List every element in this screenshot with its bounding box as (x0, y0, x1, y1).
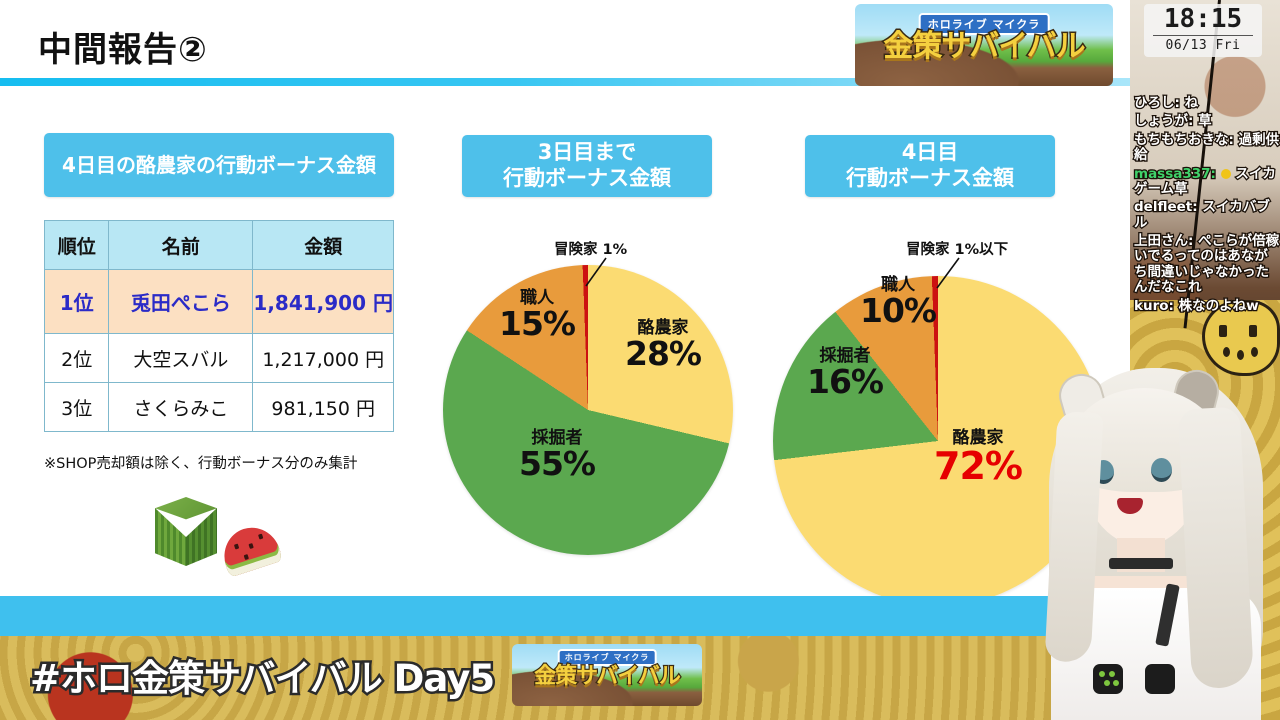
slide-panel: 中間報告② ホロライブ マイクラ 金策サバイバル 4日目の酪農家の行動ボーナス金… (0, 0, 1130, 720)
pie1-callout-leader-line (560, 252, 630, 288)
chat-text: 草 (1198, 113, 1212, 129)
melon-block-icon (155, 497, 217, 567)
chat-message: もちもちおきな: 過剰供給 (1134, 133, 1280, 164)
table-footnote: ※SHOP売却額は除く、行動ボーナス分のみ集計 (44, 452, 357, 473)
hashtag-banner-text: #ホロ金策サバイバル Day5 (30, 648, 494, 702)
cell-rank: 2位 (45, 334, 109, 383)
column-header-rank: 順位 (45, 221, 109, 270)
chat-message-list[interactable]: ひろし: ねしょうが: 草もちもちおきな: 過剰供給massa337: スイカゲ… (1134, 96, 1280, 317)
clock-divider (1153, 35, 1253, 36)
chat-message: 上田さん: ぺこらが倍稼いでるってのはあながち間違いじゃなかったんだなこれ (1134, 234, 1280, 296)
pie2-callout-leader-line (915, 252, 985, 290)
chat-text: ね (1185, 95, 1199, 111)
chat-message: delfleet: スイカバブル (1134, 200, 1280, 231)
chat-author: 上田さん: (1134, 233, 1198, 249)
chat-message: kuro: 株なのよねw (1134, 299, 1280, 314)
stream-clock: 18:15 06/13 Fri (1144, 4, 1262, 57)
cell-amount: 1,841,900 円 (253, 270, 394, 334)
pie2-title-line1: 4日目 (902, 140, 959, 164)
page-title: 中間報告② (38, 22, 208, 71)
table-header-row: 順位 名前 金額 (45, 221, 394, 270)
cell-rank: 3位 (45, 383, 109, 432)
chat-author: delfleet: (1134, 199, 1202, 215)
table-row: 1位 兎田ぺこら 1,841,900 円 (45, 270, 394, 334)
pie1-section-header: 3日目まで 行動ボーナス金額 (462, 135, 712, 197)
chat-author: しょうが: (1134, 113, 1198, 129)
cell-name: 兎田ぺこら (109, 270, 253, 334)
melon-slice-icon (217, 520, 283, 577)
pie2-title-line2: 行動ボーナス金額 (846, 166, 1014, 190)
pie2-section-header: 4日目 行動ボーナス金額 (805, 135, 1055, 197)
chat-author: もちもちおきな: (1134, 132, 1239, 148)
table-row: 3位 さくらみこ 981,150 円 (45, 383, 394, 432)
pie-chart-day4 (773, 276, 1103, 606)
chat-message: しょうが: 草 (1134, 114, 1280, 129)
table-section-header: 4日目の酪農家の行動ボーナス金額 (44, 133, 394, 197)
bottom-cyan-strip (0, 596, 1130, 636)
cell-name: さくらみこ (109, 383, 253, 432)
ranking-table: 順位 名前 金額 1位 兎田ぺこら 1,841,900 円 2位 大空スバル 1… (44, 220, 394, 432)
event-logo-bottom: ホロライブ マイクラ 金策サバイバル (512, 644, 702, 706)
column-header-name: 名前 (109, 221, 253, 270)
clock-time: 18:15 (1144, 6, 1262, 33)
coin-icon (1221, 169, 1231, 179)
event-logo-bottom-title: 金策サバイバル (534, 658, 680, 690)
chat-message: ひろし: ね (1134, 96, 1280, 111)
chat-author: ひろし: (1134, 95, 1185, 111)
chat-message: massa337: スイカゲーム草 (1134, 167, 1280, 198)
chat-author: massa337: (1134, 166, 1221, 182)
chat-text: 株なのよねw (1179, 298, 1259, 314)
cell-amount: 1,217,000 円 (253, 334, 394, 383)
event-logo: ホロライブ マイクラ 金策サバイバル (855, 4, 1113, 86)
chat-sidebar[interactable]: 18:15 06/13 Fri ひろし: ねしょうが: 草もちもちおきな: 過剰… (1130, 0, 1280, 720)
clock-date: 06/13 Fri (1144, 38, 1262, 53)
cell-rank: 1位 (45, 270, 109, 334)
stream-overlay: 中間報告② ホロライブ マイクラ 金策サバイバル 4日目の酪農家の行動ボーナス金… (0, 0, 1280, 720)
event-logo-title: 金策サバイバル (883, 21, 1084, 65)
cell-amount: 981,150 円 (253, 383, 394, 432)
pie1-title-line2: 行動ボーナス金額 (503, 166, 671, 190)
cell-name: 大空スバル (109, 334, 253, 383)
chat-author: kuro: (1134, 298, 1179, 314)
table-row: 2位 大空スバル 1,217,000 円 (45, 334, 394, 383)
pie1-title-line1: 3日目まで (538, 140, 637, 164)
pie-chart-day3 (443, 265, 733, 555)
column-header-amount: 金額 (253, 221, 394, 270)
